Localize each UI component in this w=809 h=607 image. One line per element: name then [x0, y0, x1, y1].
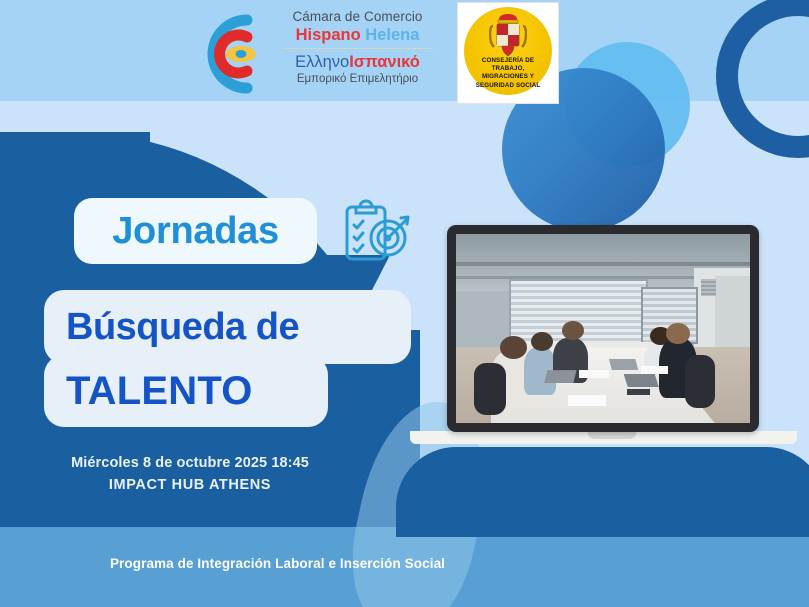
- laptop-notch: [588, 431, 636, 439]
- title-pill-talento: TALENTO: [44, 355, 328, 427]
- title-pill-busqueda: Búsqueda de: [44, 290, 411, 364]
- footer-program-text: Programa de Integración Laboral e Inserc…: [0, 556, 555, 571]
- title-pill-jornadas: Jornadas: [74, 198, 317, 264]
- chamber-cc-mark-icon: [185, 10, 277, 98]
- ministry-logo-text: CONSEJERÍA DE TRABAJO, MIGRACIONES Y SEG…: [462, 57, 554, 90]
- laptop-body: [447, 225, 759, 432]
- event-date: Miércoles 8 de octubre 2025 18:45: [20, 452, 360, 474]
- event-info: Miércoles 8 de octubre 2025 18:45 IMPACT…: [20, 452, 360, 496]
- laptop-screen: [456, 234, 750, 423]
- chamber-line-3: ΕλληνοΙσπανικό: [280, 52, 435, 72]
- spanish-coat-of-arms-icon: [489, 12, 527, 58]
- ministry-line-1: CONSEJERÍA DE: [462, 57, 554, 65]
- chamber-helena: Helena: [365, 26, 419, 44]
- title-line-2: Búsqueda de: [66, 306, 299, 349]
- chamber-logo: Cámara de Comercio Hispano Helena Ελληνο…: [185, 6, 435, 102]
- chamber-line-1: Cámara de Comercio: [280, 8, 435, 25]
- chamber-ispaniko: Ισπανικό: [349, 53, 420, 71]
- title-line-3: TALENTO: [66, 369, 253, 414]
- laptop-illustration: [447, 225, 774, 450]
- office-meeting-photo: [456, 234, 750, 423]
- ministry-line-2: TRABAJO,: [462, 65, 554, 73]
- chamber-ellino: Ελληνο: [295, 53, 349, 71]
- title-line-1: Jornadas: [112, 210, 279, 253]
- chamber-line-4: Εμπορικό Επιμελητήριο: [280, 72, 435, 87]
- ministry-logo: CONSEJERÍA DE TRABAJO, MIGRACIONES Y SEG…: [457, 2, 559, 104]
- decorative-swoosh-dark: [396, 447, 809, 537]
- chamber-logo-text: Cámara de Comercio Hispano Helena Ελληνο…: [280, 8, 435, 87]
- chamber-hispano: Hispano: [296, 26, 361, 44]
- event-poster: Cámara de Comercio Hispano Helena Ελληνο…: [0, 0, 809, 607]
- chamber-line-2: Hispano Helena: [280, 25, 435, 45]
- chamber-divider: [282, 48, 433, 49]
- event-venue: IMPACT HUB ATHENS: [20, 474, 360, 496]
- clipboard-target-icon: [341, 199, 413, 269]
- ministry-line-3: MIGRACIONES Y: [462, 73, 554, 81]
- ministry-line-4: SEGURIDAD SOCIAL: [462, 82, 554, 90]
